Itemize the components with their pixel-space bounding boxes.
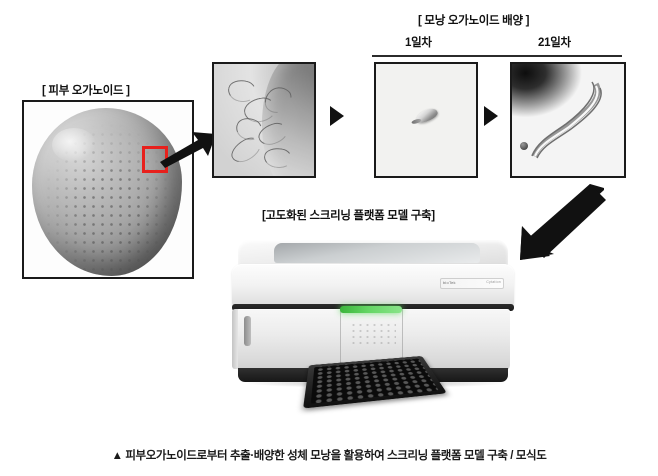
arrow-triangle-to-day1 <box>330 106 344 126</box>
figure-root: [ 피부 오가노이드 ] [ 모낭 오가노이드 배양 ] 1일차 21일차 <box>0 0 658 476</box>
organoid-highlight <box>52 128 96 162</box>
arrow-triangle-to-day21 <box>484 106 498 126</box>
status-led-strip <box>340 306 402 313</box>
hair-follicle-shaft <box>524 74 612 168</box>
microscopy-field <box>214 64 314 176</box>
instrument-brand-badge: bioTek Cytation <box>440 278 504 289</box>
label-skin-organoid: [ 피부 오가노이드 ] <box>42 82 130 98</box>
label-day-21: 21일차 <box>538 34 571 50</box>
instrument-vent-slot <box>244 316 251 346</box>
label-follicle-culture: [ 모낭 오가노이드 배양 ] <box>418 12 529 28</box>
panel-day1-image <box>374 62 478 178</box>
arrow-zoom-in <box>158 128 218 168</box>
follicle-bulb <box>520 142 528 150</box>
screening-instrument: bioTek Cytation <box>228 240 528 390</box>
panel-skin-organoid <box>22 100 194 279</box>
instrument-side-door <box>232 309 238 369</box>
figure-caption: ▲ 피부오가노이드로부터 추출·배양한 성체 모낭을 활용하여 스크리닝 플랫폼… <box>0 447 658 463</box>
badge-model-text: Cytation <box>486 280 501 284</box>
badge-brand-text: bioTek <box>443 280 456 285</box>
label-screening-platform: [고도화된 스크리닝 플랫폼 모델 구축] <box>262 207 435 223</box>
instrument-dot-matrix-panel <box>350 322 396 344</box>
arrow-to-platform <box>520 182 610 262</box>
microplate-96-well <box>303 356 447 409</box>
microplate-wells <box>311 359 439 404</box>
day-divider-rule <box>372 55 622 57</box>
panel-day21-image <box>510 62 626 178</box>
instrument-lid-window <box>274 243 480 263</box>
follicle-germ <box>415 106 440 124</box>
label-day-1: 1일차 <box>405 34 432 50</box>
panel-microscopy-zoom <box>212 62 316 178</box>
